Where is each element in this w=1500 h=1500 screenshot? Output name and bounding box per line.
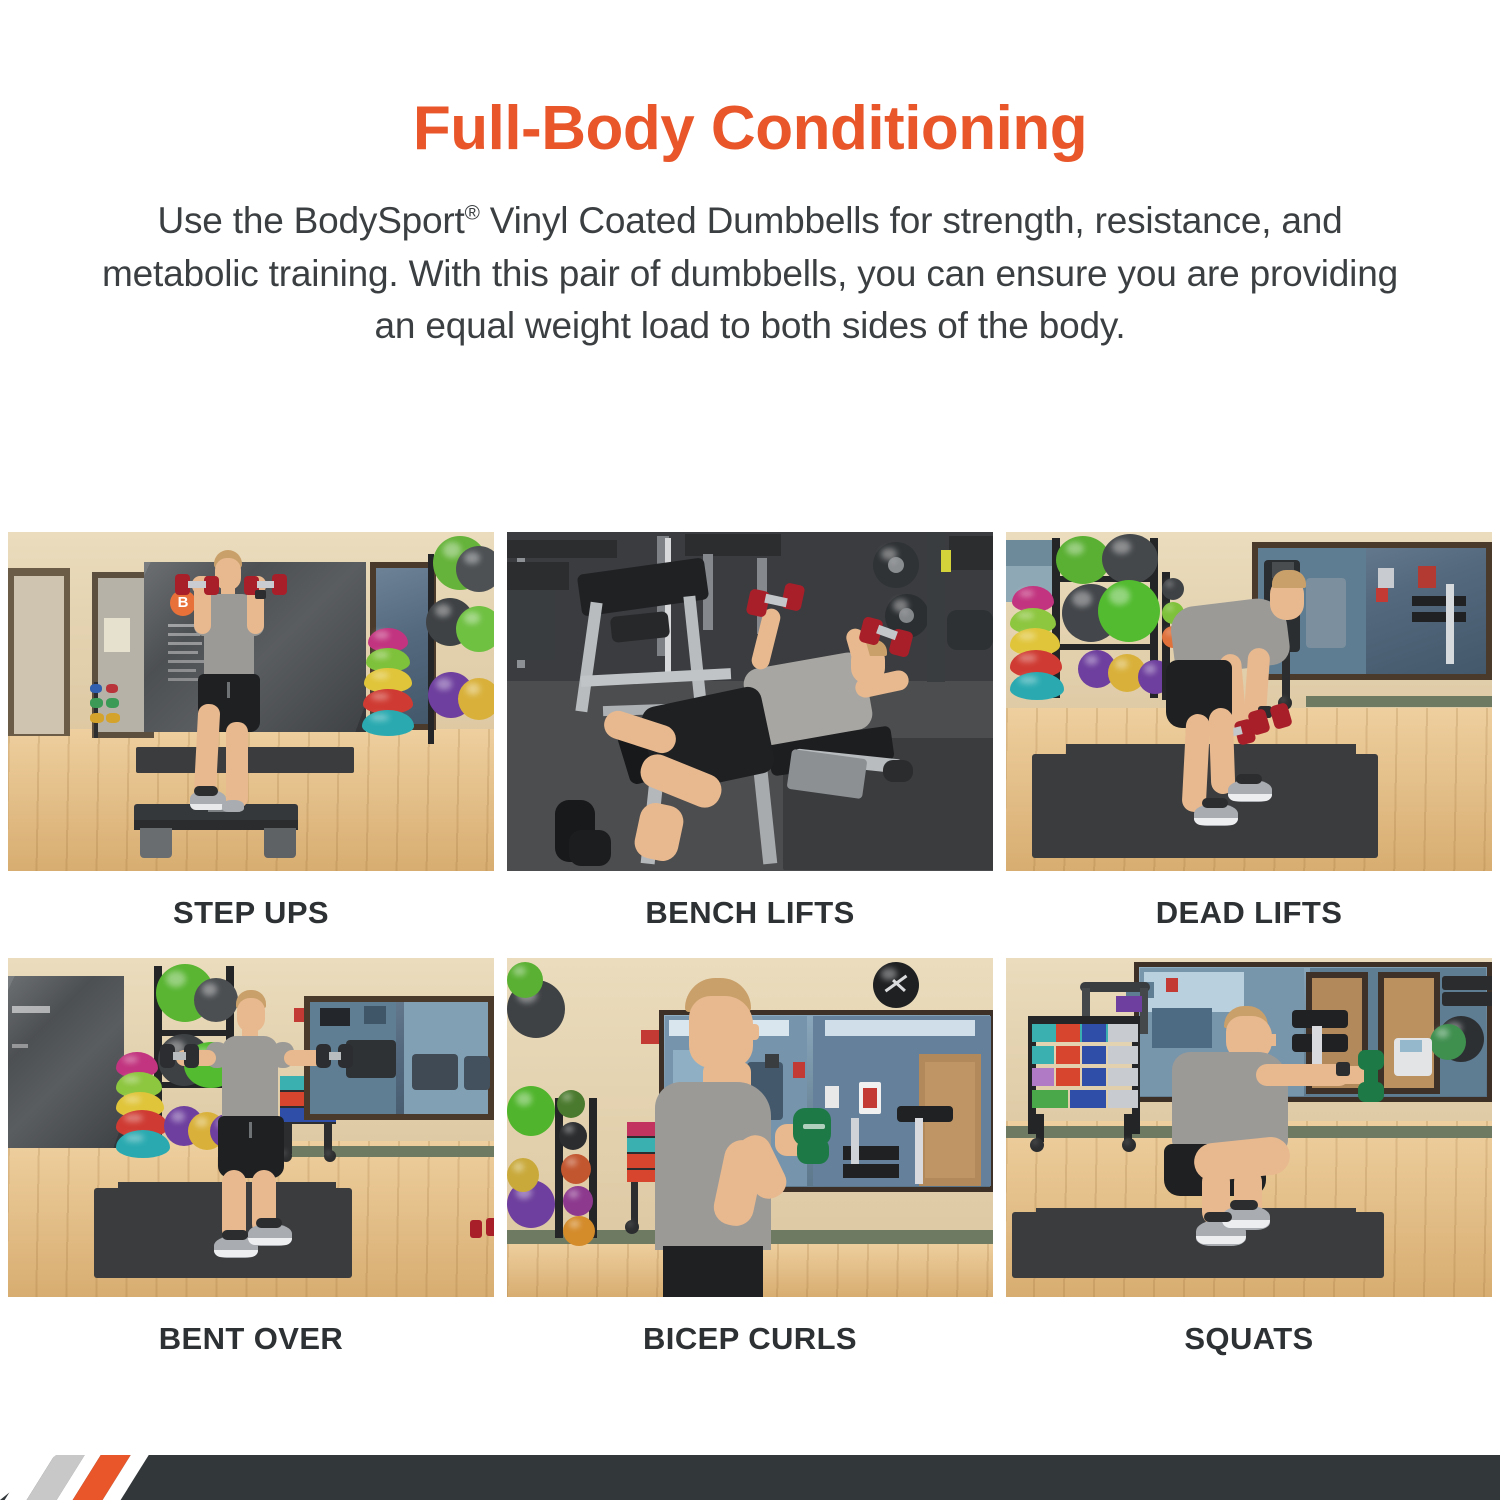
exercise-caption-bench-lifts: BENCH LIFTS (507, 871, 993, 958)
exercise-photo-bent-over (8, 958, 494, 1297)
exercise-card-dead-lifts[interactable]: DEAD LIFTS (1006, 532, 1492, 958)
exercise-photo-bench-lifts (507, 532, 993, 871)
exercise-card-step-ups[interactable]: B (8, 532, 494, 958)
exercise-photo-step-ups: B (8, 532, 494, 871)
exercise-card-bicep-curls[interactable]: BICEP CURLS (507, 958, 993, 1384)
brand-stripe-bar (0, 1455, 1500, 1500)
exercise-caption-step-ups: STEP UPS (8, 871, 494, 958)
exercise-grid: B (8, 532, 1492, 1384)
exercise-row-1: B (8, 532, 1492, 958)
subtitle-text-a: Use the BodySport (157, 200, 464, 241)
exercise-caption-squats: SQUATS (1006, 1297, 1492, 1384)
exercise-photo-bicep-curls (507, 958, 993, 1297)
header: Full-Body Conditioning Use the BodySport… (0, 0, 1500, 353)
exercise-card-bent-over[interactable]: BENT OVER (8, 958, 494, 1384)
exercise-card-bench-lifts[interactable]: BENCH LIFTS (507, 532, 993, 958)
exercise-row-2: BENT OVER (8, 958, 1492, 1384)
exercise-card-squats[interactable]: SQUATS (1006, 958, 1492, 1384)
exercise-caption-bent-over: BENT OVER (8, 1297, 494, 1384)
exercise-photo-dead-lifts (1006, 532, 1492, 871)
page-subtitle: Use the BodySport® Vinyl Coated Dumbbell… (100, 195, 1400, 353)
exercise-photo-squats (1006, 958, 1492, 1297)
exercise-caption-bicep-curls: BICEP CURLS (507, 1297, 993, 1384)
registered-mark: ® (465, 202, 480, 225)
page-title: Full-Body Conditioning (0, 96, 1500, 161)
exercise-caption-dead-lifts: DEAD LIFTS (1006, 871, 1492, 958)
